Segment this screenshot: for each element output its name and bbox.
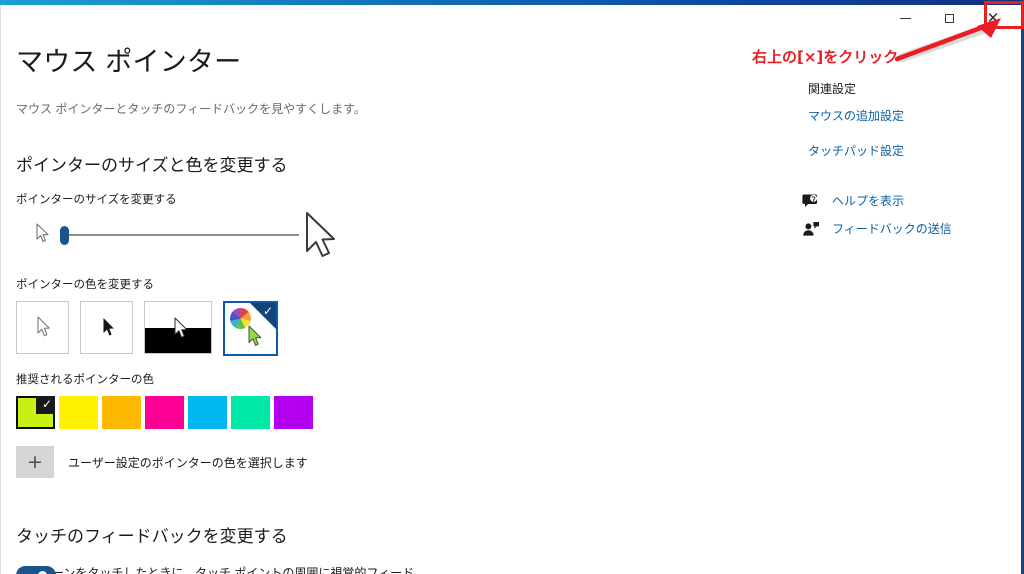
custom-color-row: + ユーザー設定のポインターの色を選択します: [16, 446, 760, 478]
custom-color-button[interactable]: +: [16, 446, 54, 478]
color-swatch-magenta[interactable]: [145, 396, 184, 429]
inverted-cursor-icon: [173, 317, 189, 340]
swatch-check-icon: ✓: [42, 396, 52, 413]
annotation-arrow-icon: [893, 14, 1018, 62]
annotation-text: 右上の[×]をクリック: [752, 46, 898, 67]
main-content: マウス ポインター マウス ポインターとタッチのフィードバックを見やすくします。…: [0, 31, 760, 574]
white-cursor-icon: [36, 316, 51, 338]
pointer-section-heading: ポインターのサイズと色を変更する: [16, 151, 760, 176]
small-cursor-preview-icon: [35, 223, 51, 243]
pointer-style-custom[interactable]: ✓: [223, 301, 278, 356]
custom-color-label: ユーザー設定のポインターの色を選択します: [68, 454, 308, 471]
pointer-style-black[interactable]: [80, 301, 133, 354]
recommended-colors-label: 推奨されるポインターの色: [16, 371, 760, 387]
color-swatch-green-yellow[interactable]: ✓: [16, 396, 55, 429]
pointer-style-inverted[interactable]: [144, 301, 212, 354]
link-touchpad-settings[interactable]: タッチパッド設定: [808, 142, 1018, 159]
recommended-color-swatches: ✓: [16, 396, 760, 429]
green-cursor-icon: [247, 325, 263, 348]
large-cursor-preview-icon: [299, 209, 343, 261]
support-rail: ヘルプを表示 フィードバックの送信: [802, 192, 1018, 248]
black-cursor-icon: [102, 317, 115, 337]
related-settings-heading: 関連設定: [808, 80, 1018, 97]
page-title: マウス ポインター: [16, 40, 760, 79]
pointer-size-slider[interactable]: [57, 226, 301, 244]
related-settings-rail: 関連設定 マウスの追加設定 タッチパッド設定: [808, 80, 1018, 159]
touch-section-heading: タッチのフィードバックを変更する: [16, 522, 760, 547]
give-feedback-label: フィードバックの送信: [832, 220, 952, 237]
pointer-size-slider-row: [16, 213, 346, 261]
color-swatch-violet[interactable]: [274, 396, 313, 429]
color-swatch-amber[interactable]: [102, 396, 141, 429]
color-swatch-spring-green[interactable]: [231, 396, 270, 429]
color-swatch-cyan[interactable]: [188, 396, 227, 429]
slider-thumb[interactable]: [60, 226, 69, 245]
help-icon: [802, 193, 820, 209]
link-mouse-additional-settings[interactable]: マウスの追加設定: [808, 107, 1018, 124]
settings-window: ✕ 右上の[×]をクリック マウス ポインター マウス ポインターとタッチのフィ…: [0, 0, 1024, 574]
touch-section-description: スクリーンをタッチしたときに、タッチ ポイントの周囲に視覚的フィードバックを表示…: [16, 564, 426, 574]
give-feedback-row[interactable]: フィードバックの送信: [802, 220, 1018, 237]
pointer-color-label: ポインターの色を変更する: [16, 276, 760, 292]
feedback-icon: [802, 221, 820, 237]
page-subtitle: マウス ポインターとタッチのフィードバックを見やすくします。: [16, 100, 760, 117]
get-help-label: ヘルプを表示: [832, 192, 904, 209]
touch-feedback-toggle[interactable]: [16, 566, 56, 574]
get-help-row[interactable]: ヘルプを表示: [802, 192, 1018, 209]
pointer-size-label: ポインターのサイズを変更する: [16, 191, 760, 207]
pointer-style-tiles: ✓: [16, 301, 760, 356]
slider-track: [61, 234, 299, 236]
color-swatch-yellow[interactable]: [59, 396, 98, 429]
selected-check-icon: ✓: [263, 305, 273, 317]
pointer-style-white[interactable]: [16, 301, 69, 354]
title-bar: ✕: [0, 5, 1021, 31]
